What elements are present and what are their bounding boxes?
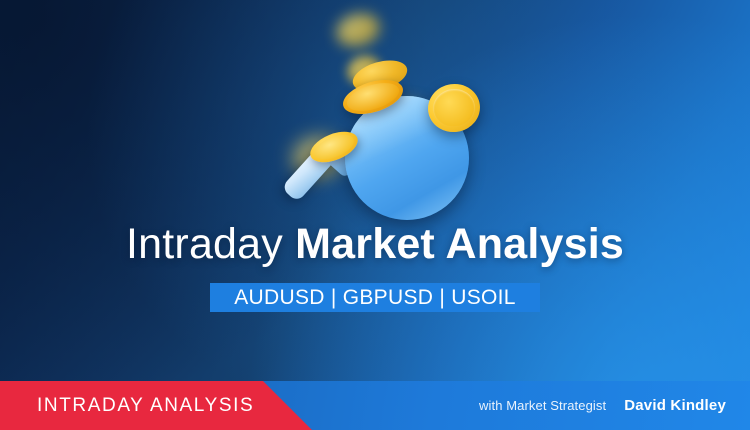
page-title: Intraday Market Analysis [0,218,750,270]
intraday-analysis-banner: Intraday Market Analysis AUDUSD | GBPUSD… [0,0,750,430]
footer-category-label: INTRADAY ANALYSIS [37,381,254,430]
background-glow [0,0,750,430]
page-title-bold: Market Analysis [295,220,624,268]
footer-byline-prefix: with Market Strategist [479,398,606,413]
footer-byline: with Market StrategistDavid Kindley [479,381,726,430]
page-title-light: Intraday [126,220,295,268]
instrument-pairs-badge: AUDUSD | GBPUSD | USOIL [210,283,540,312]
footer-bar: INTRADAY ANALYSIS with Market Strategist… [0,381,750,430]
footer-analyst-name: David Kindley [624,397,726,414]
pairs-badge-container: AUDUSD | GBPUSD | USOIL [0,283,750,312]
